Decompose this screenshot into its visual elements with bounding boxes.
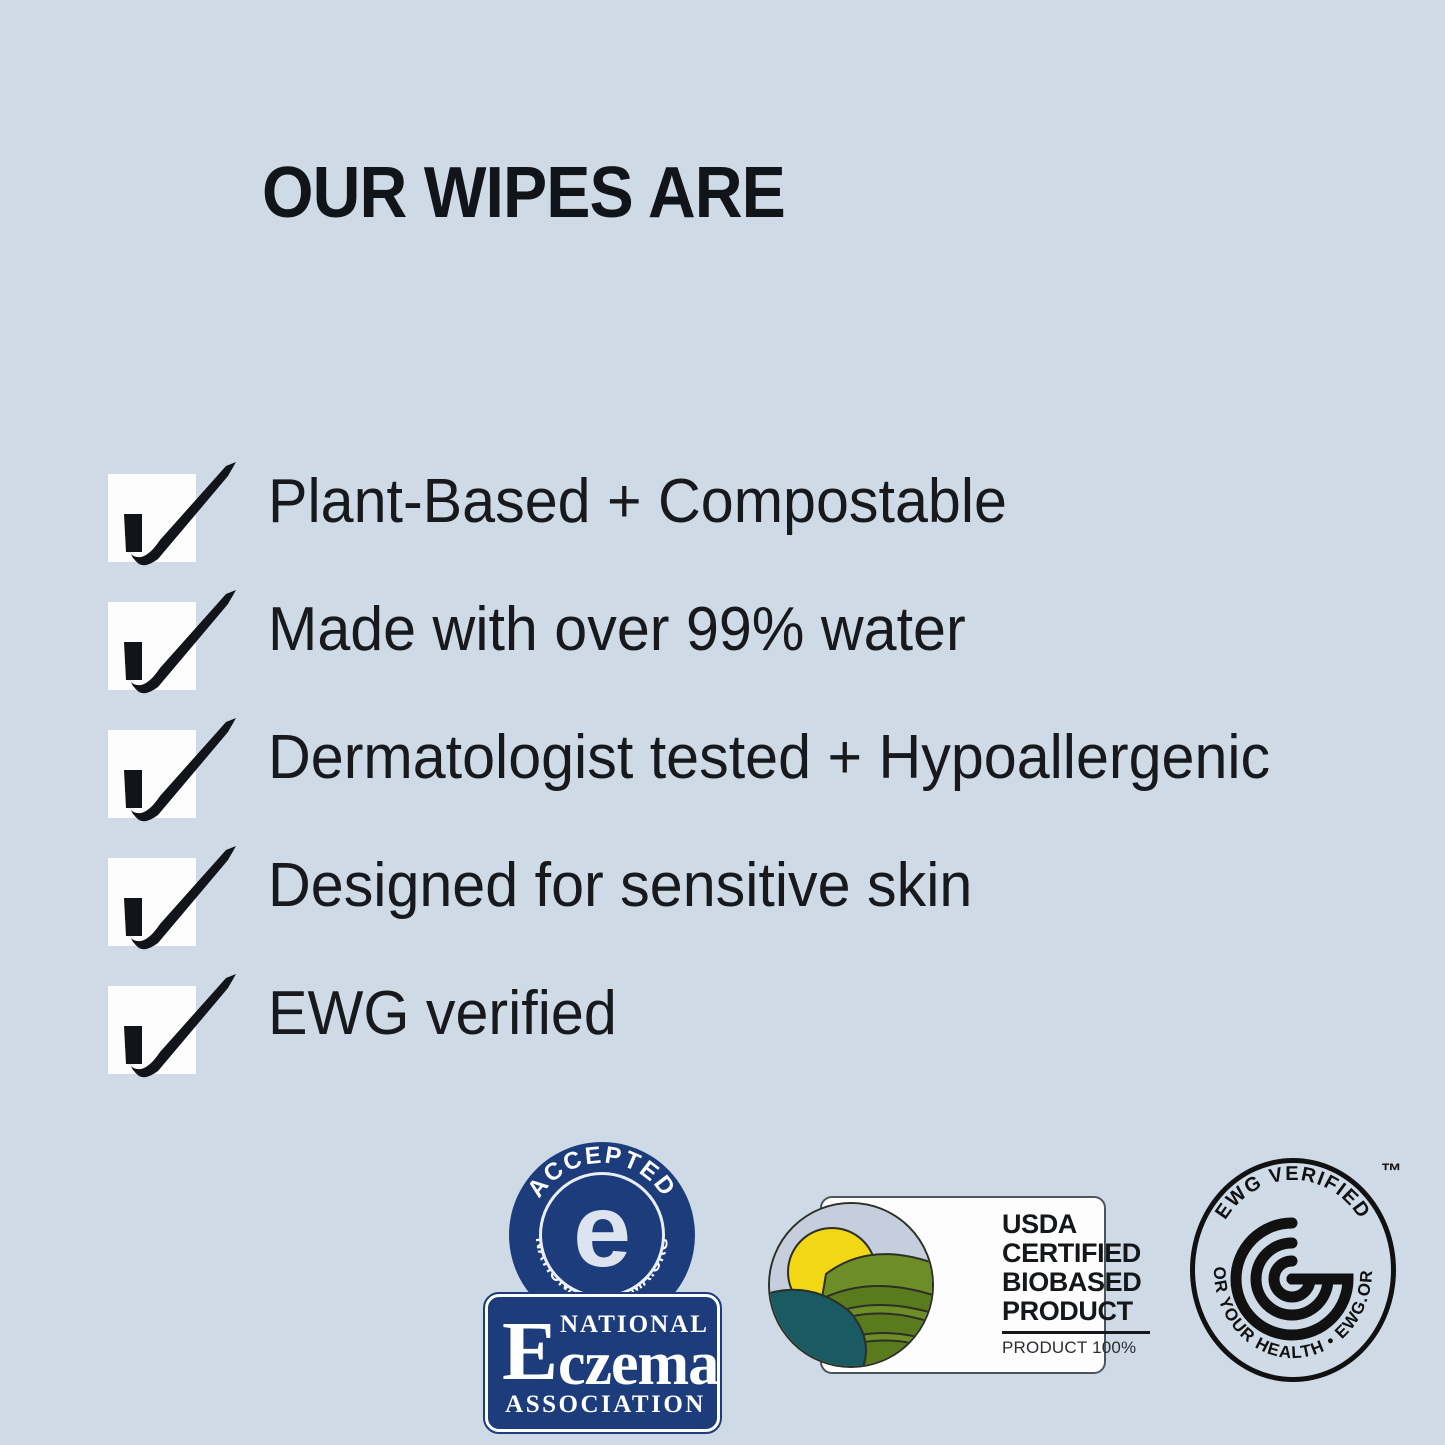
checkmark-icon: [108, 460, 204, 556]
list-item: EWG verified: [108, 962, 1408, 1090]
usda-line-2: CERTIFIED: [1002, 1239, 1150, 1268]
usda-text-block: USDA CERTIFIED BIOBASED PRODUCT PRODUCT …: [1002, 1210, 1150, 1358]
national-eczema-association-seal: ACCEPTED NATIONALECZEMA.ORG e NATIONAL E…: [485, 1142, 720, 1432]
nea-monogram: e: [550, 1183, 654, 1287]
benefit-label: Plant-Based + Compostable: [268, 456, 1007, 548]
list-item: Plant-Based + Compostable: [108, 450, 1408, 578]
list-item: Designed for sensitive skin: [108, 834, 1408, 962]
checkmark-glyph: [108, 716, 243, 826]
usda-line-3: BIOBASED: [1002, 1268, 1150, 1297]
ewg-arc-top: EWG VERIFIED: [1211, 1163, 1375, 1223]
checkmark-icon: [108, 716, 204, 812]
benefit-label: Dermatologist tested + Hypoallergenic: [268, 712, 1270, 804]
benefit-list: Plant-Based + Compostable Made with over…: [108, 450, 1408, 1090]
usda-certified-biobased-product-badge: USDA CERTIFIED BIOBASED PRODUCT PRODUCT …: [768, 1196, 1106, 1374]
list-item: Dermatologist tested + Hypoallergenic: [108, 706, 1408, 834]
nea-plate-initial: E: [502, 1313, 558, 1391]
checkmark-glyph: [108, 972, 243, 1082]
checkmark-glyph: [108, 844, 243, 954]
nea-plate-bottom: ASSOCIATION: [502, 1391, 709, 1419]
nea-inner-ring: e: [539, 1172, 665, 1298]
checkmark-icon: [108, 588, 204, 684]
usda-subline: PRODUCT 100%: [1002, 1338, 1150, 1358]
ewg-verified-seal: ™ EWG VERIFIED FOR YOUR HEALTH • EWG.ORG: [1178, 1154, 1406, 1404]
page-title: OUR WIPES ARE: [262, 152, 785, 234]
nea-plate-mid: czema: [558, 1333, 718, 1395]
benefit-label: EWG verified: [268, 968, 617, 1060]
svg-text:EWG VERIFIED: EWG VERIFIED: [1211, 1163, 1375, 1223]
list-item: Made with over 99% water: [108, 578, 1408, 706]
certification-badge-row: ACCEPTED NATIONALECZEMA.ORG e NATIONAL E…: [0, 1128, 1445, 1438]
usda-farm-scene-icon: [768, 1202, 934, 1368]
checkmark-glyph: [108, 588, 243, 698]
checkmark-glyph: [108, 460, 243, 570]
nea-nameplate: NATIONAL E czema ASSOCIATION: [485, 1294, 720, 1432]
ewg-monogram-icon: [1230, 1217, 1354, 1341]
checkmark-icon: [108, 844, 204, 940]
checkmark-icon: [108, 972, 204, 1068]
benefit-label: Made with over 99% water: [268, 584, 966, 676]
usda-line-4: PRODUCT: [1002, 1297, 1150, 1326]
usda-line-1: USDA: [1002, 1210, 1150, 1239]
benefit-label: Designed for sensitive skin: [268, 840, 972, 932]
usda-divider: [1002, 1331, 1150, 1334]
